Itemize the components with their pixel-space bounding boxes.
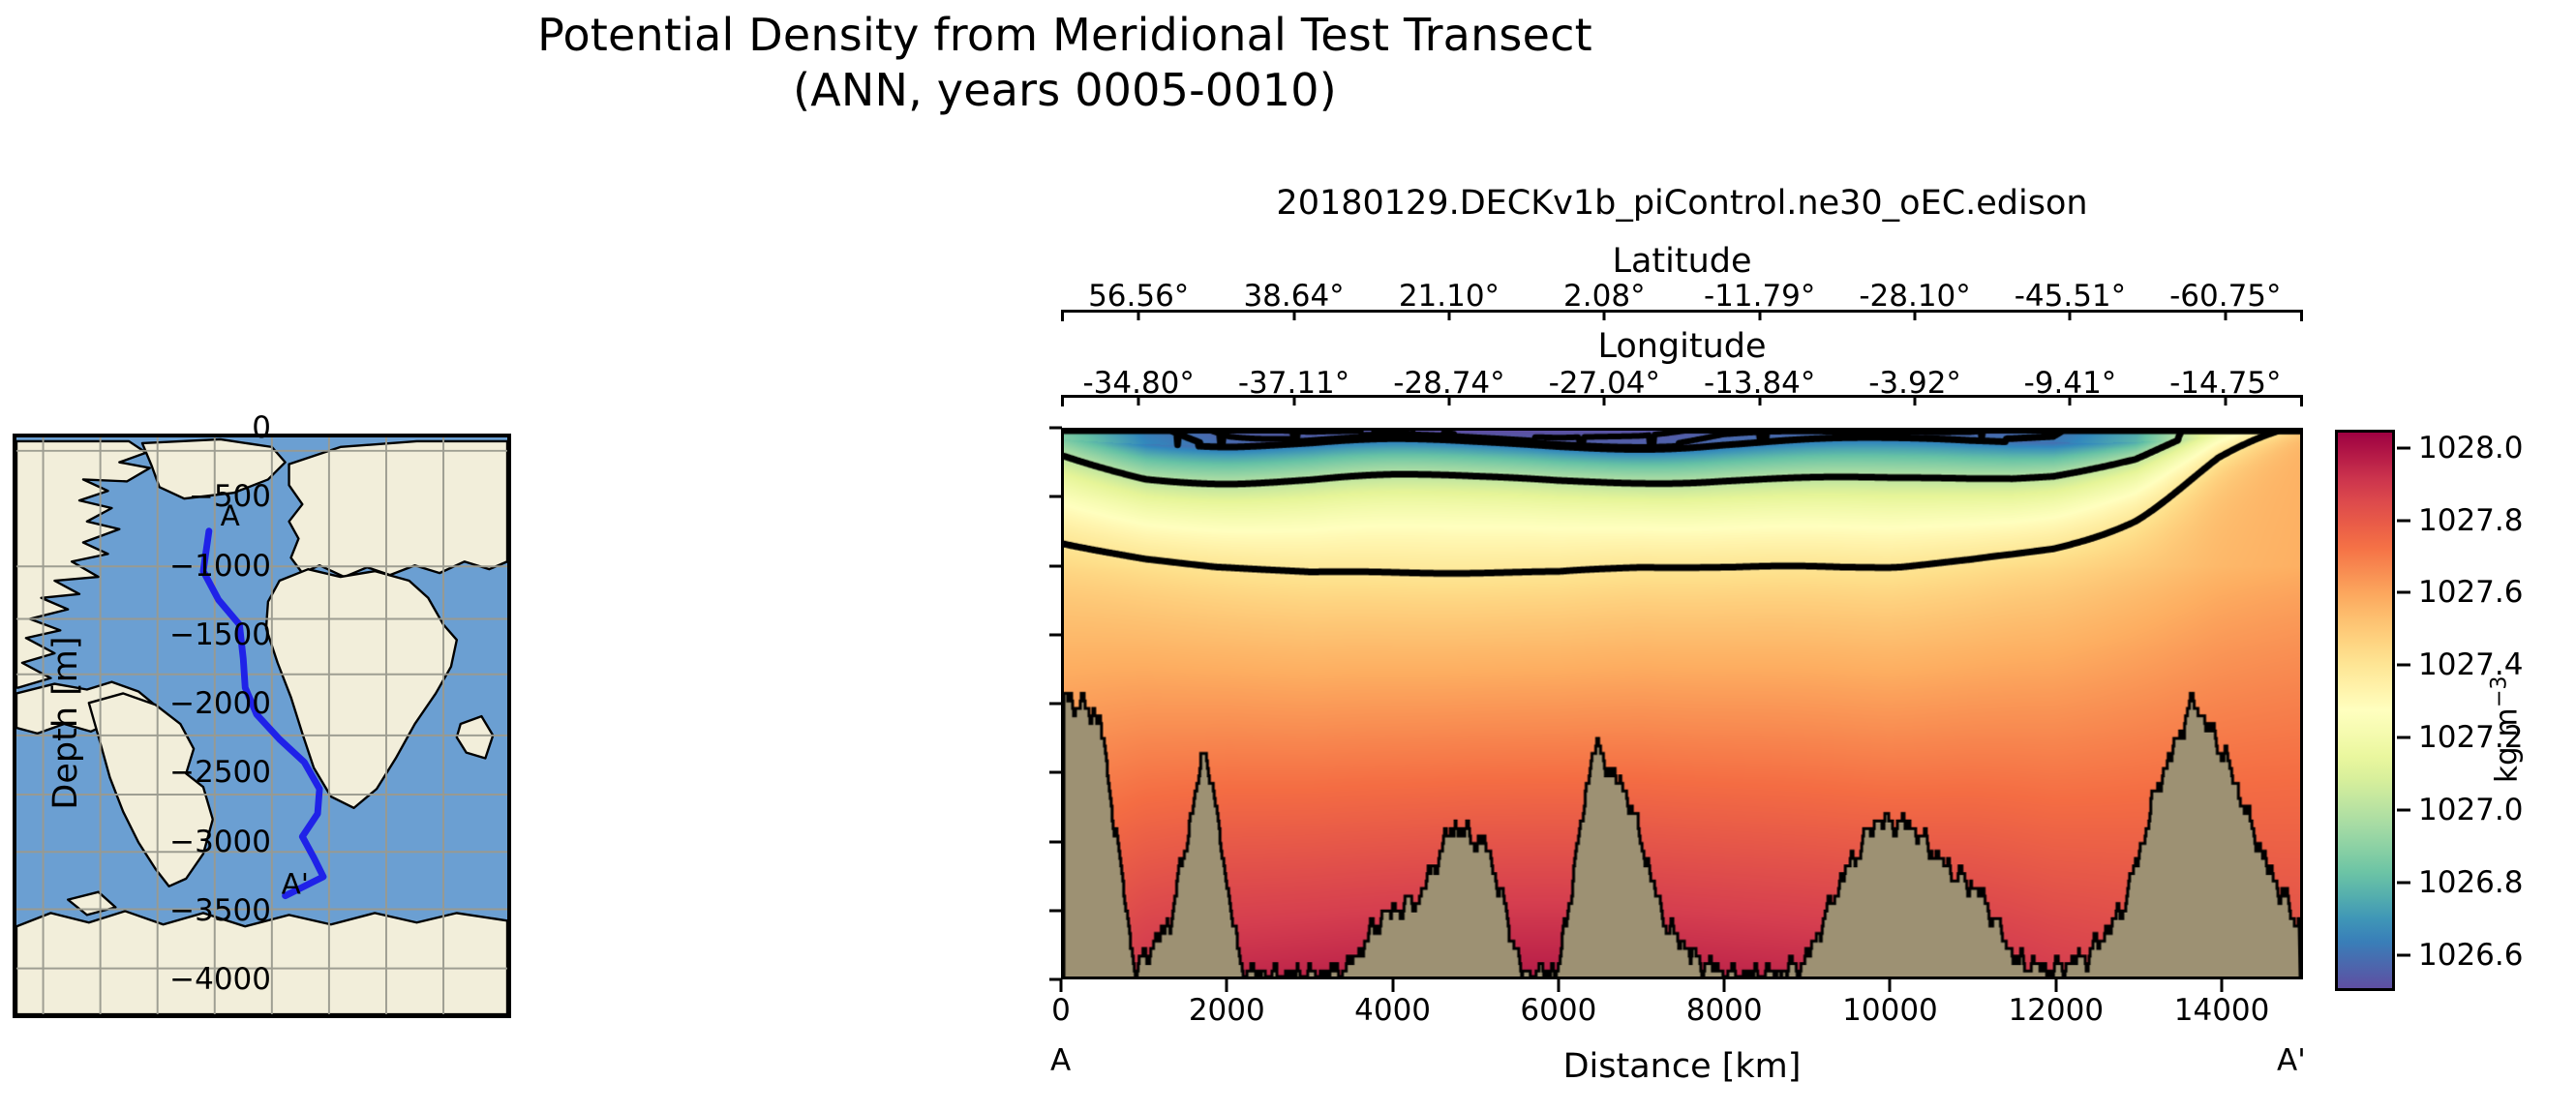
- density-section-plot: [1061, 428, 2303, 979]
- longitude-axis-label: Longitude: [1061, 327, 2303, 366]
- depth-tick-mark: [1049, 496, 1062, 498]
- depth-tick-label: −2500: [169, 755, 271, 790]
- depth-tick-label: −4000: [169, 962, 271, 997]
- distance-tick-label: 4000: [1354, 993, 1431, 1028]
- distance-tick-mark: [1391, 979, 1394, 992]
- latitude-tick-label: 2.08°: [1563, 279, 1646, 314]
- colorbar-tick-mark: [2397, 953, 2410, 956]
- longitude-tick-label: -37.11°: [1238, 366, 1349, 401]
- depth-tick-label: −2000: [169, 686, 271, 721]
- distance-tick-mark: [1226, 979, 1228, 992]
- distance-tick-label: 0: [1051, 993, 1071, 1028]
- colorbar-tick-label: 1027.6: [2418, 575, 2523, 610]
- depth-tick-label: −1000: [169, 549, 271, 584]
- depth-tick-mark: [1049, 564, 1062, 567]
- depth-tick-label: −3000: [169, 825, 271, 859]
- latitude-tick-label: 38.64°: [1243, 279, 1344, 314]
- colorbar-tick-mark: [2397, 519, 2410, 522]
- latitude-axis-label: Latitude: [1061, 242, 2303, 281]
- depth-tick-mark: [1049, 427, 1062, 430]
- depth-tick-mark: [1049, 771, 1062, 774]
- depth-tick-mark: [1049, 703, 1062, 706]
- colorbar-tick-label: 1027.2: [2418, 720, 2523, 755]
- longitude-tick-label: -14.75°: [2169, 366, 2281, 401]
- longitude-tick-label: -13.84°: [1704, 366, 1815, 401]
- colorbar-tick-mark: [2397, 881, 2410, 884]
- distance-tick-label: 6000: [1520, 993, 1596, 1028]
- colorbar-tick-label: 1027.0: [2418, 793, 2523, 827]
- depth-tick-label: 0: [252, 410, 271, 445]
- distance-tick-label: 2000: [1189, 993, 1265, 1028]
- distance-tick-mark: [1060, 979, 1063, 992]
- colorbar-tick-mark: [2397, 446, 2410, 449]
- distance-tick-label: 12000: [2008, 993, 2104, 1028]
- density-field-canvas: [1064, 431, 2300, 977]
- panel-title: 20180129.DECKv1b_piControl.ne30_oEC.edis…: [1060, 184, 2304, 223]
- colorbar-tick-mark: [2397, 591, 2410, 594]
- section-endpoint-a-prime: A': [2277, 1043, 2306, 1078]
- colorbar: [2335, 430, 2395, 991]
- depth-tick-mark: [1049, 909, 1062, 912]
- latitude-tick-label: 56.56°: [1088, 279, 1189, 314]
- longitude-tick-label: -3.92°: [1868, 366, 1961, 401]
- colorbar-tick-label: 1028.0: [2418, 431, 2523, 466]
- depth-axis-label: Depth [m]: [46, 471, 85, 975]
- longitude-tick-label: -27.04°: [1549, 366, 1660, 401]
- latitude-tick-label: -11.79°: [1704, 279, 1815, 314]
- distance-tick-mark: [1557, 979, 1560, 992]
- latitude-tick-label: -28.10°: [1859, 279, 1970, 314]
- latitude-tick-label: 21.10°: [1399, 279, 1500, 314]
- depth-tick-mark: [1049, 840, 1062, 843]
- latitude-axis-cap: [1061, 310, 1064, 321]
- distance-tick-mark: [2221, 979, 2224, 992]
- distance-axis-label: Distance [km]: [1061, 1047, 2303, 1086]
- colorbar-tick-label: 1027.4: [2418, 647, 2523, 682]
- colorbar-tick-label: 1026.8: [2418, 865, 2523, 900]
- depth-tick-mark: [1049, 633, 1062, 636]
- colorbar-tick-label: 1027.8: [2418, 503, 2523, 538]
- colorbar-tick-mark: [2397, 736, 2410, 739]
- latitude-tick-label: -60.75°: [2169, 279, 2281, 314]
- colorbar-tick-mark: [2397, 808, 2410, 811]
- depth-tick-label: −1500: [169, 617, 271, 652]
- longitude-tick-label: -34.80°: [1082, 366, 1194, 401]
- distance-tick-mark: [1889, 979, 1892, 992]
- depth-tick-label: −3500: [169, 893, 271, 928]
- figure-canvas: Potential Density from Meridional Test T…: [0, 0, 2576, 1112]
- distance-tick-label: 8000: [1686, 993, 1763, 1028]
- latitude-axis-cap: [2300, 310, 2303, 321]
- depth-tick-label: −500: [189, 479, 271, 514]
- distance-tick-label: 10000: [1842, 993, 1938, 1028]
- distance-tick-mark: [1723, 979, 1726, 992]
- transect-location-map: A A': [13, 434, 511, 1018]
- figure-suptitle: Potential Density from Meridional Test T…: [0, 8, 2130, 118]
- colorbar-tick-mark: [2397, 664, 2410, 667]
- colorbar-tick-label: 1026.6: [2418, 938, 2523, 973]
- map-label-a-prime: A': [282, 868, 309, 901]
- section-endpoint-a: A: [1050, 1043, 1071, 1078]
- longitude-tick-label: -9.41°: [2024, 366, 2117, 401]
- colorbar-gradient: [2338, 433, 2392, 988]
- distance-tick-label: 14000: [2174, 993, 2270, 1028]
- longitude-tick-label: -28.74°: [1393, 366, 1504, 401]
- latitude-tick-label: -45.51°: [2015, 279, 2126, 314]
- distance-tick-mark: [2054, 979, 2057, 992]
